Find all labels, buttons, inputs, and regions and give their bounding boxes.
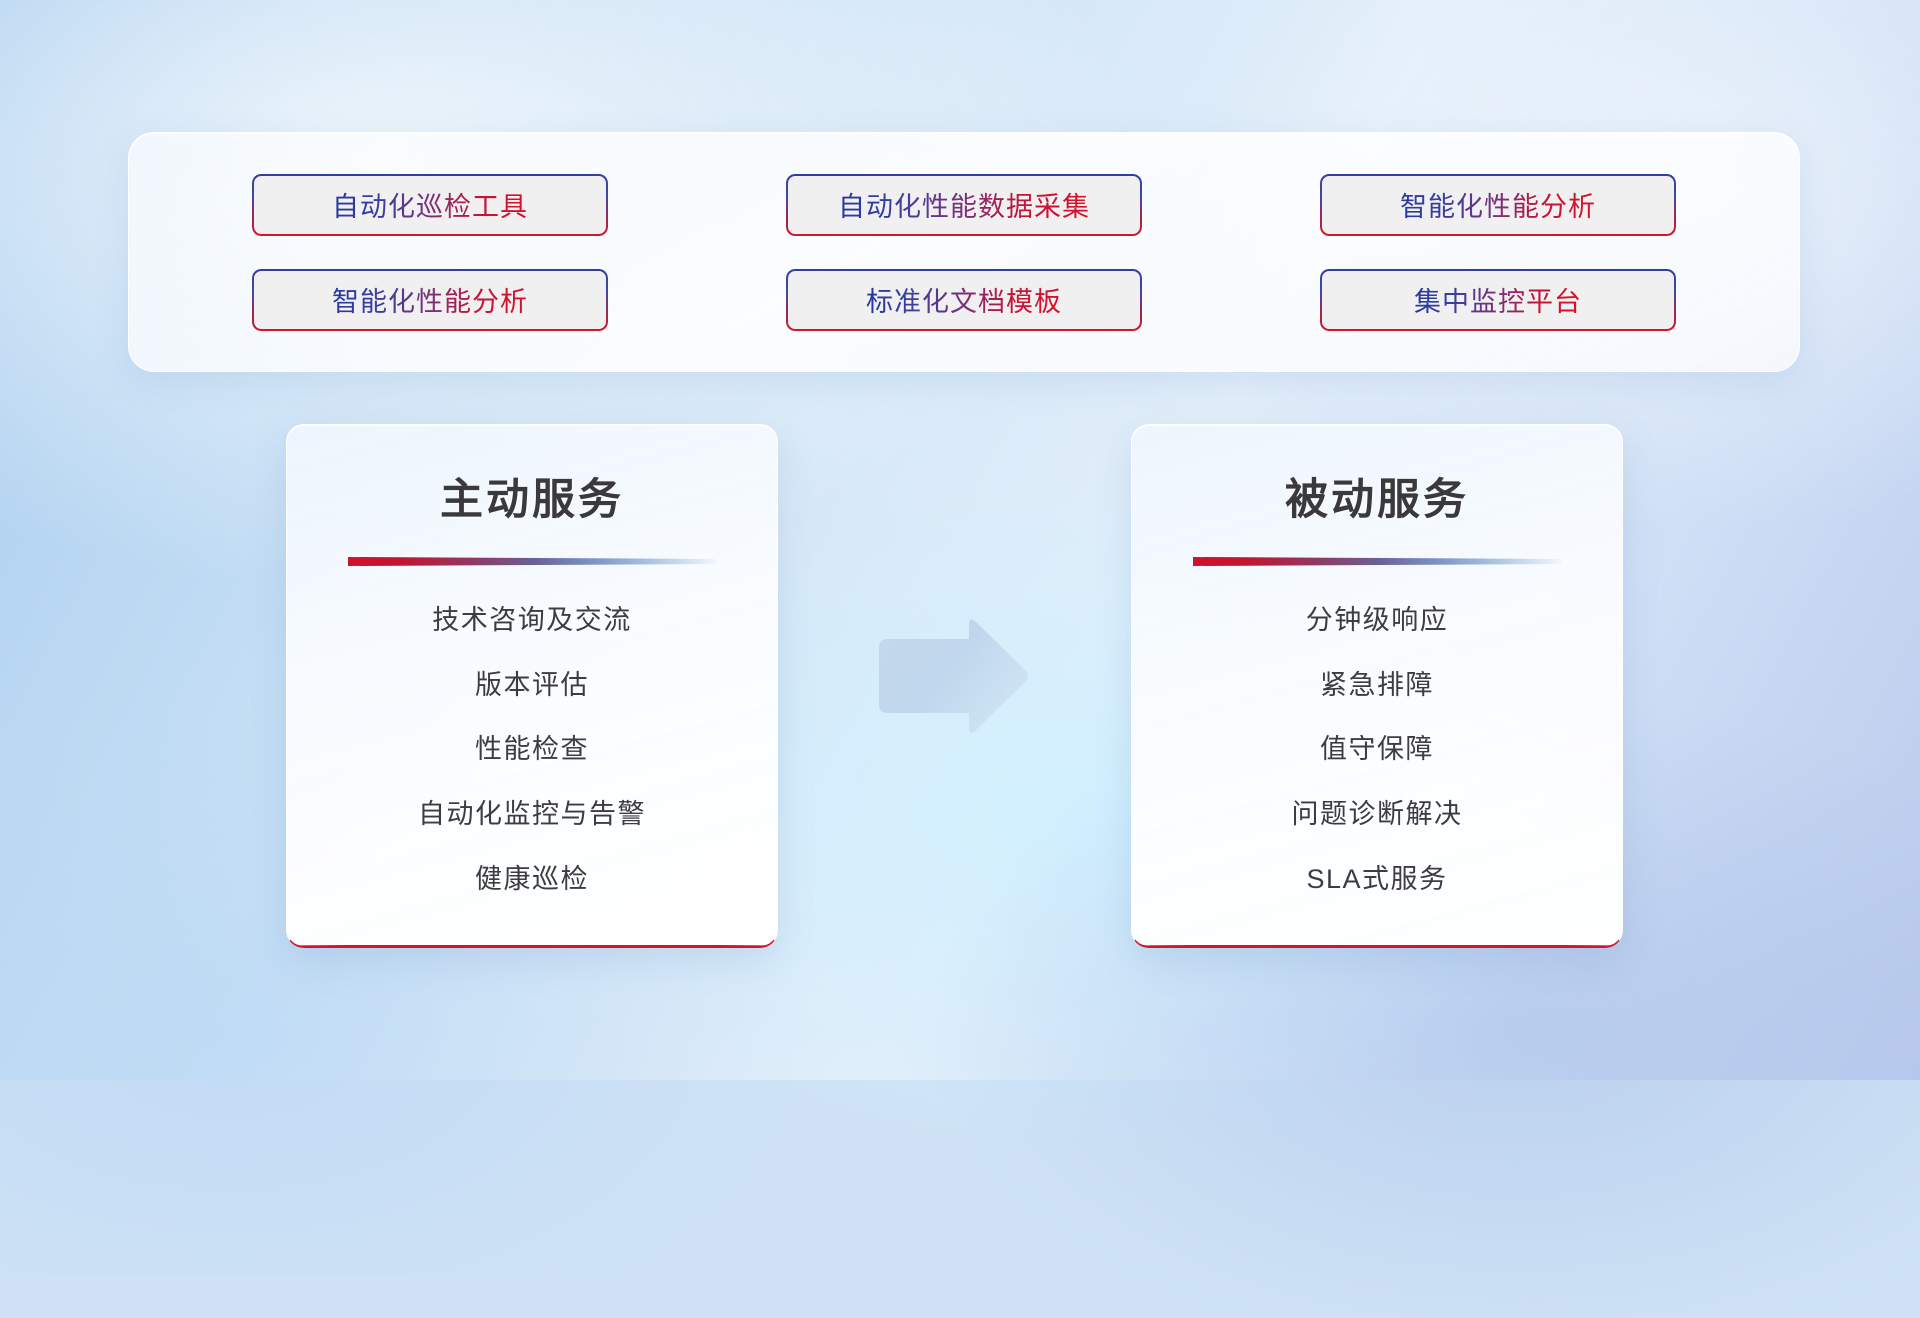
tool-chip-label: 智能化性能分析 xyxy=(332,280,528,319)
tool-chip-2[interactable]: 自动化性能数据采集 xyxy=(786,174,1142,236)
list-item: 版本评估 xyxy=(287,671,777,701)
active-service-card: 主动服务 技术咨询及交流 版本评估 性能检查 自动化监控与告警 健康巡检 xyxy=(286,424,778,948)
list-item: SLA式服务 xyxy=(1132,865,1622,895)
passive-service-list: 分钟级响应 紧急排障 值守保障 问题诊断解决 SLA式服务 xyxy=(1132,566,1622,894)
list-item: 自动化监控与告警 xyxy=(287,800,777,830)
tool-chip-label: 集中监控平台 xyxy=(1414,280,1582,319)
tool-chip-label: 自动化性能数据采集 xyxy=(838,185,1090,224)
active-service-list: 技术咨询及交流 版本评估 性能检查 自动化监控与告警 健康巡检 xyxy=(287,566,777,894)
tool-chip-4[interactable]: 智能化性能分析 xyxy=(252,269,608,331)
list-item: 分钟级响应 xyxy=(1132,606,1622,636)
active-service-title: 主动服务 xyxy=(287,465,777,527)
list-item: 问题诊断解决 xyxy=(1132,800,1622,830)
title-divider xyxy=(1193,557,1561,566)
title-divider xyxy=(348,557,716,566)
tool-chip-3[interactable]: 智能化性能分析 xyxy=(1320,174,1676,236)
list-item: 健康巡检 xyxy=(287,865,777,895)
list-item: 紧急排障 xyxy=(1132,671,1622,701)
tool-chip-label: 智能化性能分析 xyxy=(1400,185,1596,224)
tool-chip-6[interactable]: 集中监控平台 xyxy=(1320,269,1676,331)
list-item: 技术咨询及交流 xyxy=(287,606,777,636)
arrow-right-icon xyxy=(873,617,1033,735)
passive-service-card: 被动服务 分钟级响应 紧急排障 值守保障 问题诊断解决 SLA式服务 xyxy=(1131,424,1623,948)
list-item: 性能检查 xyxy=(287,735,777,765)
passive-service-title: 被动服务 xyxy=(1132,465,1622,527)
tool-chip-label: 标准化文档模板 xyxy=(866,280,1062,319)
tool-chip-label: 自动化巡检工具 xyxy=(332,185,528,224)
tools-panel: 自动化巡检工具 自动化性能数据采集 智能化性能分析 智能化性能分析 标准化文档模… xyxy=(128,132,1800,372)
list-item: 值守保障 xyxy=(1132,735,1622,765)
tool-chip-5[interactable]: 标准化文档模板 xyxy=(786,269,1142,331)
tool-chip-1[interactable]: 自动化巡检工具 xyxy=(252,174,608,236)
